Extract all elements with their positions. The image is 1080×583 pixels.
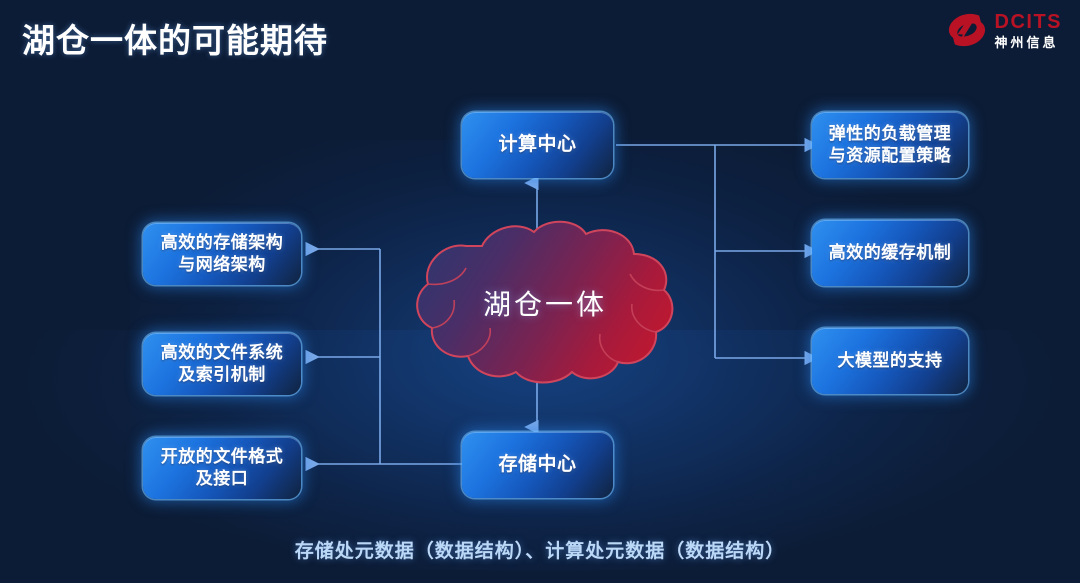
node-right-elastic-workload-label: 弹性的负载管理与资源配置策略 bbox=[812, 123, 968, 167]
footer-caption: 存储处元数据（数据结构）、计算处元数据（数据结构） bbox=[0, 536, 1080, 563]
node-left-file-system-label: 高效的文件系统及索引机制 bbox=[143, 342, 301, 386]
node-left-storage-arch[interactable]: 高效的存储架构与网络架构 bbox=[143, 223, 301, 285]
node-storage-center[interactable]: 存储中心 bbox=[462, 432, 613, 498]
logo-text-block: DCITS 神州信息 bbox=[995, 12, 1063, 49]
node-right-cache-label: 高效的缓存机制 bbox=[819, 242, 962, 264]
node-compute-center-label: 计算中心 bbox=[488, 133, 586, 157]
brand-logo: DCITS 神州信息 bbox=[945, 10, 1063, 50]
center-cloud: 湖仓一体 bbox=[410, 218, 680, 388]
cloud-label: 湖仓一体 bbox=[410, 218, 680, 388]
logo-english-name: DCITS bbox=[995, 12, 1063, 32]
node-compute-center[interactable]: 计算中心 bbox=[462, 112, 613, 178]
node-left-file-format[interactable]: 开放的文件格式及接口 bbox=[143, 437, 301, 499]
node-right-elastic-workload[interactable]: 弹性的负载管理与资源配置策略 bbox=[812, 112, 968, 178]
node-storage-center-label: 存储中心 bbox=[488, 453, 586, 477]
logo-chinese-name: 神州信息 bbox=[995, 36, 1059, 49]
node-left-file-format-label: 开放的文件格式及接口 bbox=[143, 446, 301, 490]
slide-canvas: 湖仓一体的可能期待 DCITS 神州信息 bbox=[0, 0, 1080, 583]
node-right-cache[interactable]: 高效的缓存机制 bbox=[812, 220, 968, 286]
node-left-storage-arch-label: 高效的存储架构与网络架构 bbox=[143, 232, 301, 276]
node-right-llm[interactable]: 大模型的支持 bbox=[812, 328, 968, 394]
page-title: 湖仓一体的可能期待 bbox=[22, 14, 328, 62]
node-left-file-system[interactable]: 高效的文件系统及索引机制 bbox=[143, 333, 301, 395]
swirl-logo-icon bbox=[945, 10, 989, 50]
slide-header: 湖仓一体的可能期待 DCITS 神州信息 bbox=[0, 0, 1080, 72]
node-right-llm-label: 大模型的支持 bbox=[828, 350, 953, 372]
